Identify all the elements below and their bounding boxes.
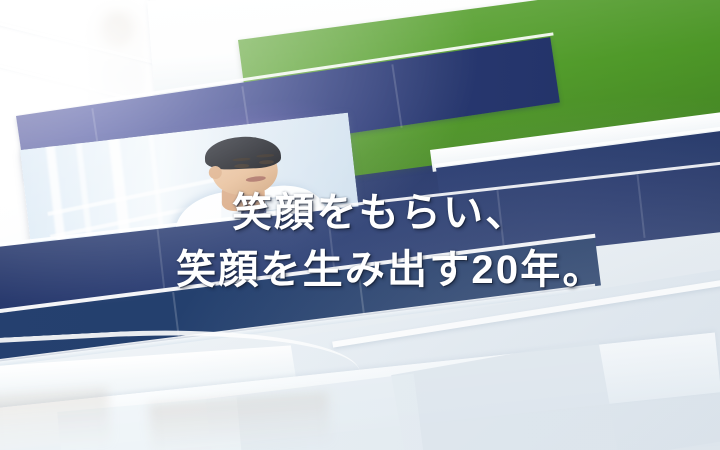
doctor-id-badge: [265, 197, 283, 212]
video-frame-stage: 笑顔をもらい、 笑顔を生み出す20年。: [0, 0, 720, 450]
